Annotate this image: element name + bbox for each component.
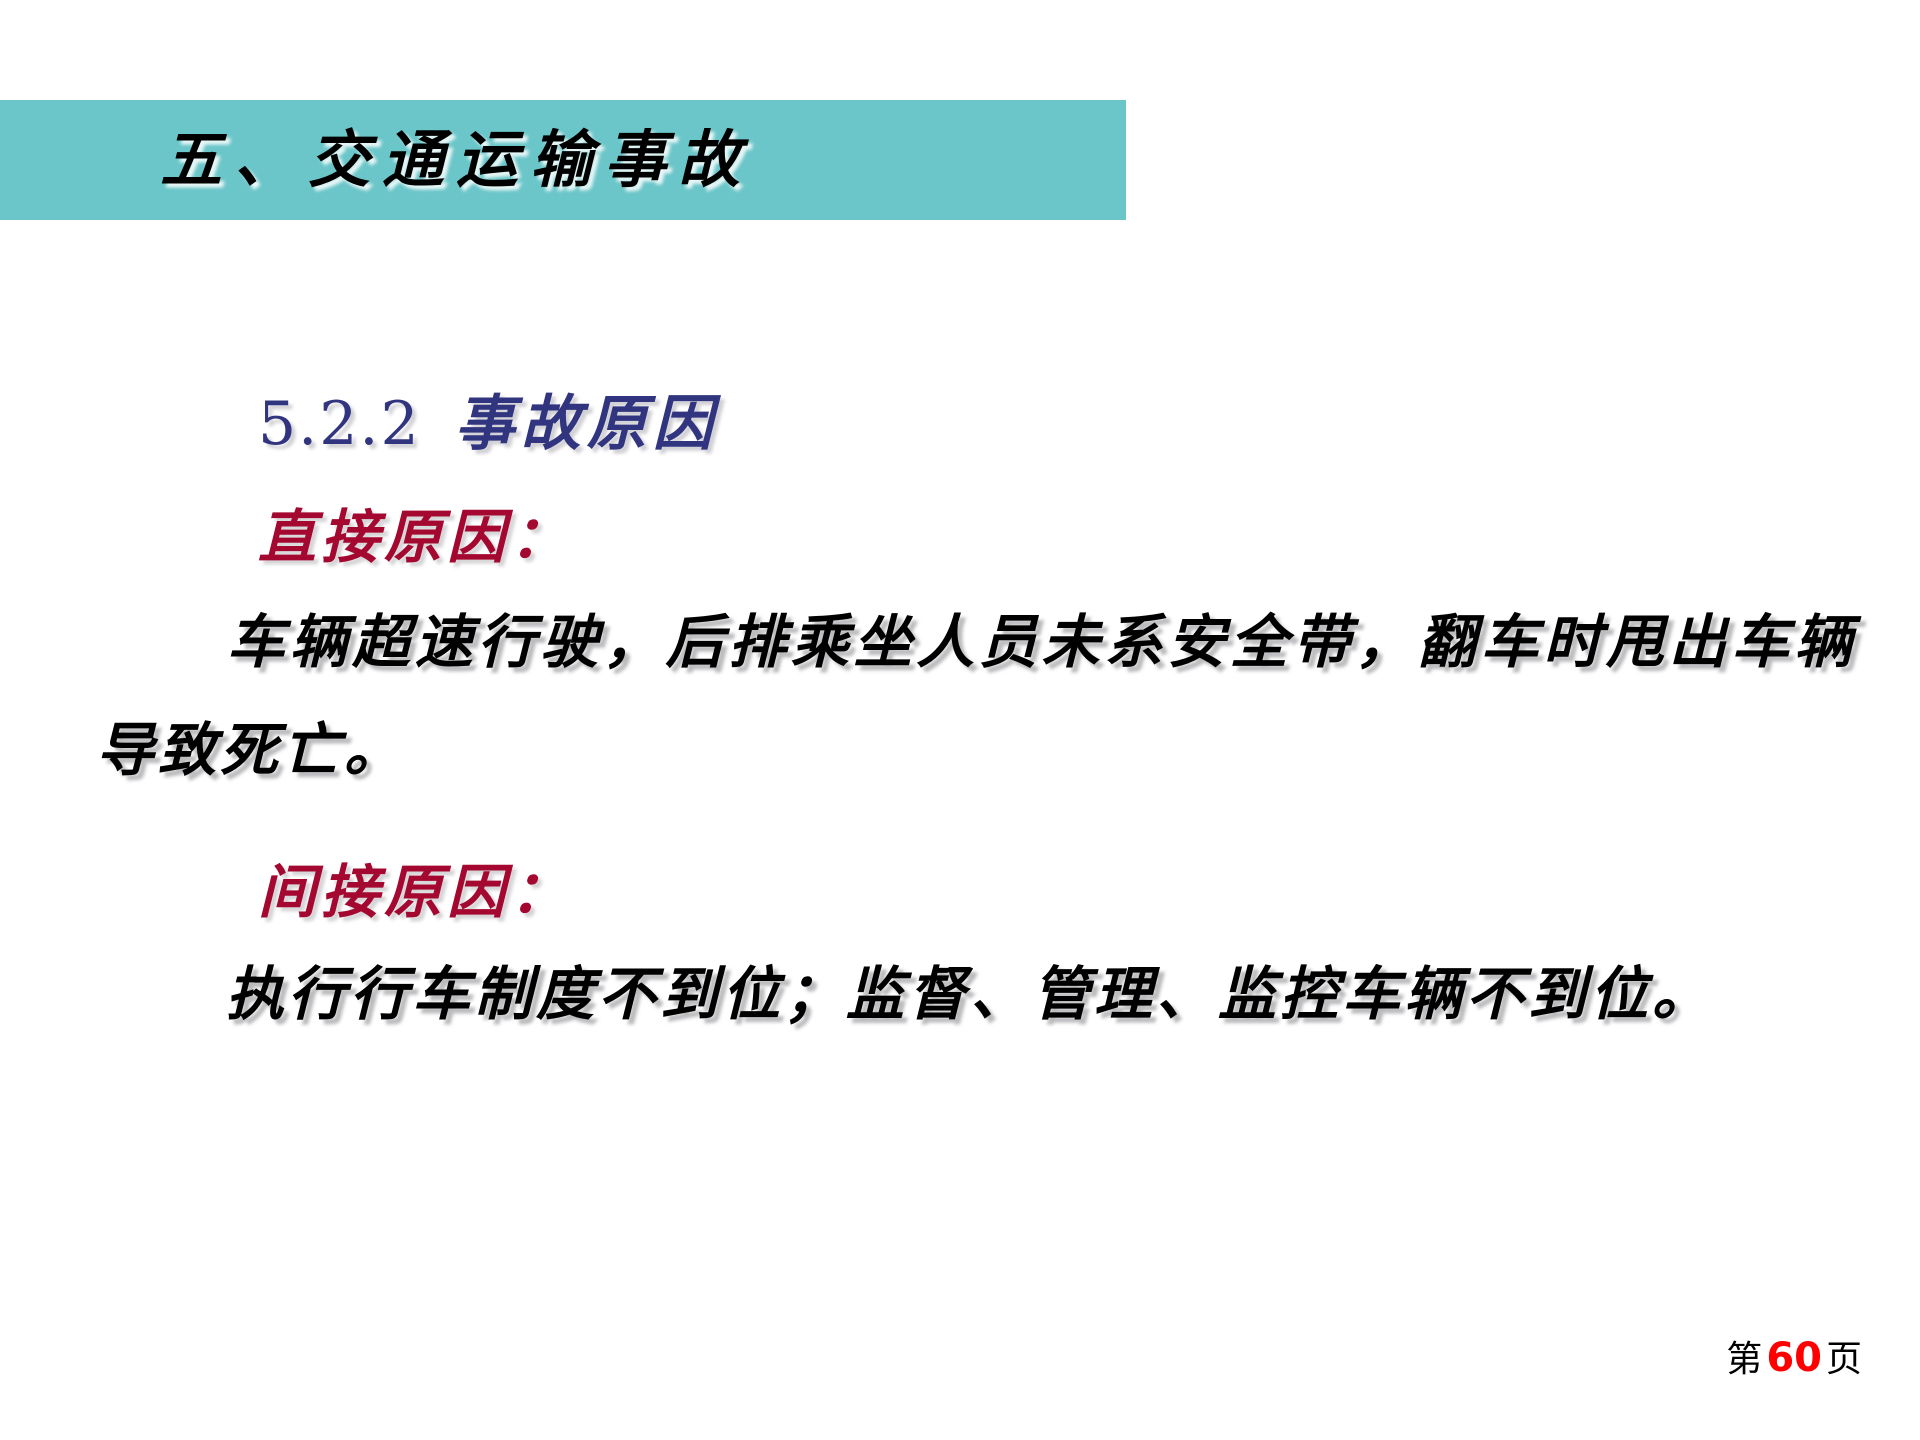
direct-cause-paragraph: 车辆超速行驶，后排乘坐人员未系安全带，翻车时甩出车辆导致死亡。: [96, 588, 1856, 804]
section-number: 5.2.2: [258, 389, 421, 459]
direct-cause-label: 直接原因：: [258, 490, 573, 574]
page-label-suffix: 页: [1826, 1339, 1862, 1380]
slide-canvas: 五、交通运输事故 5.2.2事故原因 直接原因： 车辆超速行驶，后排乘坐人员未系…: [0, 0, 1920, 1440]
page-number: 60: [1766, 1335, 1822, 1381]
direct-cause-text: 车辆超速行驶，后排乘坐人员未系安全带，翻车时甩出车辆导致死亡。: [96, 608, 1856, 784]
section-heading: 5.2.2事故原因: [258, 375, 719, 462]
indirect-cause-paragraph: 执行行车制度不到位；监督、管理、监控车辆不到位。: [96, 940, 1856, 1048]
page-footer: 第60页: [1726, 1330, 1862, 1382]
page-label-prefix: 第: [1726, 1339, 1762, 1380]
indirect-cause-text: 执行行车制度不到位；监督、管理、监控车辆不到位。: [226, 960, 1714, 1028]
section-title: 事故原因: [455, 389, 719, 459]
banner-title: 五、交通运输事故: [160, 102, 1120, 218]
indirect-cause-label: 间接原因：: [258, 845, 573, 929]
